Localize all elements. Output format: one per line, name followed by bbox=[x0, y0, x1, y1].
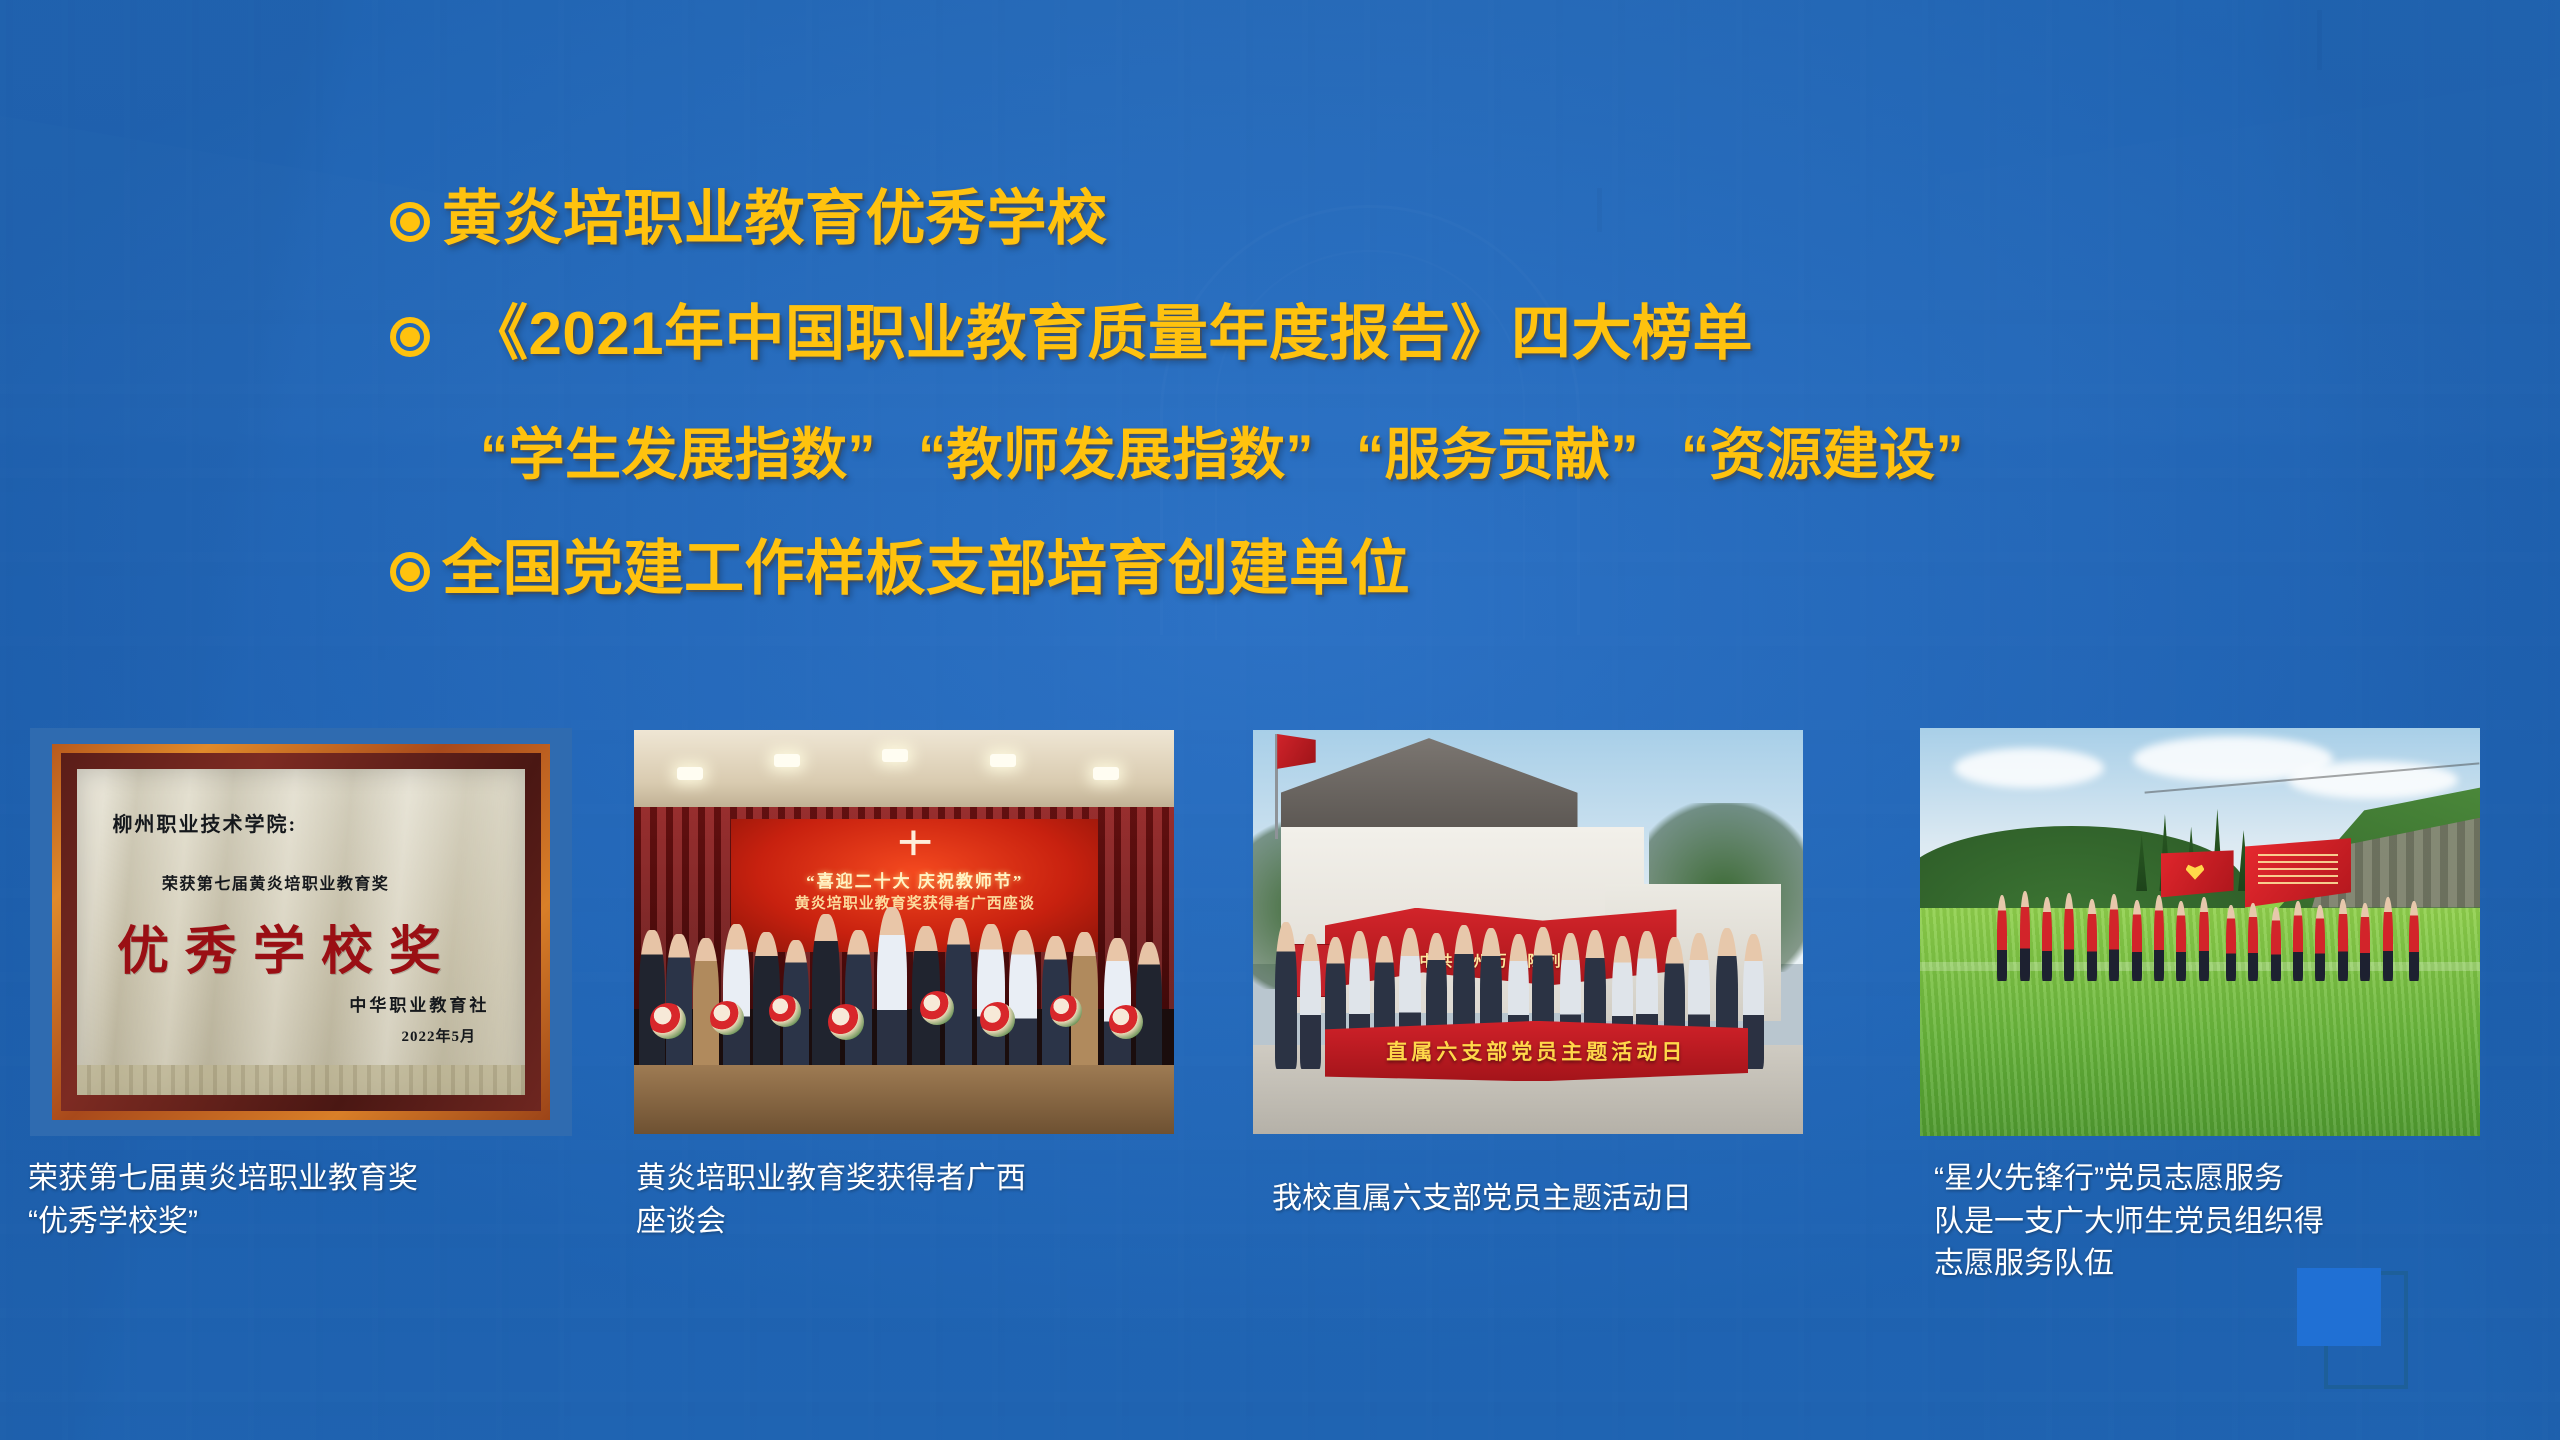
person-figure bbox=[639, 930, 665, 1073]
volunteer-figure bbox=[2338, 899, 2348, 981]
plaque-wood-frame: 柳州职业技术学院: 荣获第七届黄炎培职业教育奖 优秀学校奖 中华职业教育社 20… bbox=[61, 753, 542, 1110]
volunteer-figure bbox=[2132, 900, 2142, 981]
ceiling-lamp-icon bbox=[677, 767, 703, 780]
photo-gallery: 柳州职业技术学院: 荣获第七届黄炎培职业教育奖 优秀学校奖 中华职业教育社 20… bbox=[0, 0, 2560, 1440]
volunteer-figure bbox=[2315, 905, 2325, 981]
person-figure bbox=[845, 930, 872, 1073]
activity-banner: 直属六支部党员主题活动日 bbox=[1325, 1021, 1749, 1082]
volunteer-figure bbox=[1997, 895, 2007, 981]
person-figure bbox=[1009, 930, 1037, 1073]
person-figure bbox=[1275, 922, 1297, 1069]
photo-caption-3: 我校直属六支部党员主题活动日 bbox=[1272, 1178, 1832, 1221]
teachers-day-group-image: “喜迎二十大 庆祝教师节” 黄炎培职业教育奖获得者广西座谈 bbox=[634, 730, 1174, 1134]
volunteer-figure bbox=[2087, 899, 2097, 981]
person-figure bbox=[1136, 942, 1162, 1074]
volunteer-figure bbox=[2176, 901, 2186, 981]
volunteer-figure bbox=[2199, 897, 2209, 981]
bouquet-icon bbox=[1050, 995, 1082, 1027]
bouquet-icon bbox=[980, 1002, 1015, 1037]
photo-caption-2: 黄炎培职业教育奖获得者广西 座谈会 bbox=[636, 1158, 1176, 1243]
ceiling-lamp-icon bbox=[1093, 767, 1119, 780]
plaque-date-line: 2022年5月 bbox=[401, 1025, 476, 1046]
bouquet-icon bbox=[650, 1003, 686, 1039]
volunteer-figure bbox=[2248, 903, 2258, 981]
volunteer-figure bbox=[2226, 905, 2236, 981]
ceiling-lamp-icon bbox=[990, 754, 1016, 767]
volunteer-figure bbox=[2360, 903, 2370, 981]
party-emblem-icon bbox=[898, 828, 932, 856]
volunteer-figure bbox=[2271, 907, 2281, 981]
party-branch-activity-photo: 中共柳州历史陈列馆 bbox=[1253, 730, 1803, 1134]
group-photo-teachers-day: “喜迎二十大 庆祝教师节” 黄炎培职业教育奖获得者广西座谈 bbox=[634, 730, 1174, 1134]
volunteer-figure bbox=[2064, 893, 2074, 981]
bouquet-icon bbox=[769, 995, 801, 1027]
photo-caption-1: 荣获第七届黄炎培职业教育奖 “优秀学校奖” bbox=[28, 1158, 588, 1243]
award-plaque-photo: 柳州职业技术学院: 荣获第七届黄炎培职业教育奖 优秀学校奖 中华职业教育社 20… bbox=[30, 728, 572, 1136]
volunteer-figure bbox=[2154, 895, 2164, 981]
rice-field-volunteers-image bbox=[1920, 728, 2480, 1136]
attendees-row bbox=[634, 880, 1174, 1074]
bouquet-icon bbox=[710, 1001, 744, 1035]
volunteer-figure bbox=[2109, 894, 2119, 981]
person-figure bbox=[812, 914, 840, 1073]
ceiling-lamp-icon bbox=[774, 754, 800, 767]
volunteer-figure bbox=[2020, 891, 2030, 981]
volunteer-figure bbox=[2409, 901, 2419, 981]
person-figure bbox=[723, 924, 750, 1073]
plaque-recipient-line: 柳州职业技术学院: bbox=[113, 808, 298, 837]
bouquet-icon bbox=[1109, 1005, 1143, 1039]
bouquet-icon bbox=[920, 991, 954, 1025]
plaque-award-line: 荣获第七届黄炎培职业教育奖 bbox=[162, 870, 390, 894]
award-plaque-image: 柳州职业技术学院: 荣获第七届黄炎培职业教育奖 优秀学校奖 中华职业教育社 20… bbox=[30, 728, 572, 1136]
person-figure bbox=[1300, 934, 1321, 1069]
memorial-hall-group-image: 中共柳州历史陈列馆 bbox=[1253, 730, 1803, 1134]
volunteer-team-rice-field-photo bbox=[1920, 728, 2480, 1136]
volunteer-figure bbox=[2293, 901, 2303, 981]
person-figure bbox=[877, 907, 907, 1074]
plaque-title-line: 优秀学校奖 bbox=[117, 909, 457, 984]
volunteer-figure bbox=[2042, 897, 2052, 981]
volunteer-figure bbox=[2383, 897, 2393, 981]
stage-floor bbox=[634, 1065, 1174, 1134]
plaque-issuer-line: 中华职业教育社 bbox=[349, 991, 489, 1016]
person-figure bbox=[977, 924, 1005, 1073]
ceiling-lamp-icon bbox=[882, 749, 908, 762]
volunteers-row bbox=[1993, 883, 2441, 981]
activity-banner-text: 直属六支部党员主题活动日 bbox=[1386, 1036, 1686, 1066]
plaque-gold-edge: 柳州职业技术学院: 荣获第七届黄炎培职业教育奖 优秀学校奖 中华职业教育社 20… bbox=[52, 744, 551, 1119]
auditorium-ceiling bbox=[634, 730, 1174, 815]
photo-caption-4: “星火先锋行”党员志愿服务 队是一支广大师生党员组织得 志愿服务队伍 bbox=[1934, 1158, 2504, 1286]
plaque-face: 柳州职业技术学院: 荣获第七届黄炎培职业教育奖 优秀学校奖 中华职业教育社 20… bbox=[77, 769, 526, 1094]
